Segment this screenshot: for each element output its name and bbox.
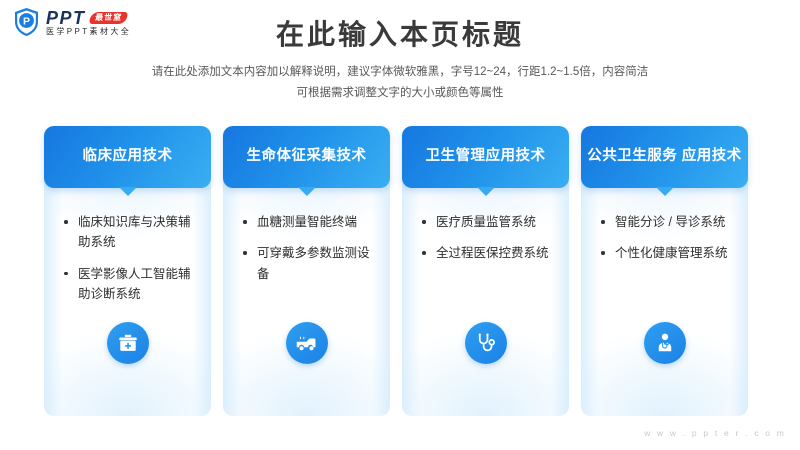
card-4-title[interactable]: 公共卫生服务 应用技术 [581, 126, 748, 188]
page-subtitle: 请在此处添加文本内容加以解释说明，建议字体微软雅黑，字号12~24，行距1.2~… [0, 62, 800, 105]
card-3[interactable]: 卫生管理应用技术 医疗质量监管系统 全过程医保控费系统 [402, 126, 569, 416]
list-item: 医学影像人工智能辅助诊断系统 [61, 264, 198, 305]
card-3-bullets: 医疗质量监管系统 全过程医保控费系统 [402, 212, 569, 275]
stethoscope-icon [465, 322, 507, 364]
card-1-bullets: 临床知识库与决策辅助系统 医学影像人工智能辅助诊断系统 [44, 212, 211, 315]
subtitle-line-1: 请在此处添加文本内容加以解释说明，建议字体微软雅黑，字号12~24，行距1.2~… [0, 62, 800, 83]
doctor-icon [644, 322, 686, 364]
slide-canvas: P PPT 最世窒 医学PPT素材大全 在此输入本页标题 请在此处添加文本内容加… [0, 0, 800, 450]
card-2-title[interactable]: 生命体征采集技术 [223, 126, 390, 188]
card-1-title[interactable]: 临床应用技术 [44, 126, 211, 188]
list-item: 全过程医保控费系统 [419, 243, 556, 263]
ambulance-icon [286, 322, 328, 364]
card-4[interactable]: 公共卫生服务 应用技术 智能分诊 / 导诊系统 个性化健康管理系统 [581, 126, 748, 416]
watermark: w w w . p p t e r . c o m [644, 428, 786, 438]
list-item: 智能分诊 / 导诊系统 [598, 212, 735, 232]
card-4-bullets: 智能分诊 / 导诊系统 个性化健康管理系统 [581, 212, 748, 275]
list-item: 医疗质量监管系统 [419, 212, 556, 232]
list-item: 血糖测量智能终端 [240, 212, 377, 232]
subtitle-line-2: 可根据需求调整文字的大小或颜色等属性 [0, 83, 800, 104]
card-1[interactable]: 临床应用技术 临床知识库与决策辅助系统 医学影像人工智能辅助诊断系统 [44, 126, 211, 416]
list-item: 临床知识库与决策辅助系统 [61, 212, 198, 253]
card-row: 临床应用技术 临床知识库与决策辅助系统 医学影像人工智能辅助诊断系统 生命体征采… [44, 126, 760, 416]
card-2-bullets: 血糖测量智能终端 可穿戴多参数监测设备 [223, 212, 390, 295]
medical-kit-icon [107, 322, 149, 364]
card-3-title[interactable]: 卫生管理应用技术 [402, 126, 569, 188]
page-title: 在此输入本页标题 [0, 18, 800, 52]
list-item: 个性化健康管理系统 [598, 243, 735, 263]
list-item: 可穿戴多参数监测设备 [240, 243, 377, 284]
card-2[interactable]: 生命体征采集技术 血糖测量智能终端 可穿戴多参数监测设备 [223, 126, 390, 416]
